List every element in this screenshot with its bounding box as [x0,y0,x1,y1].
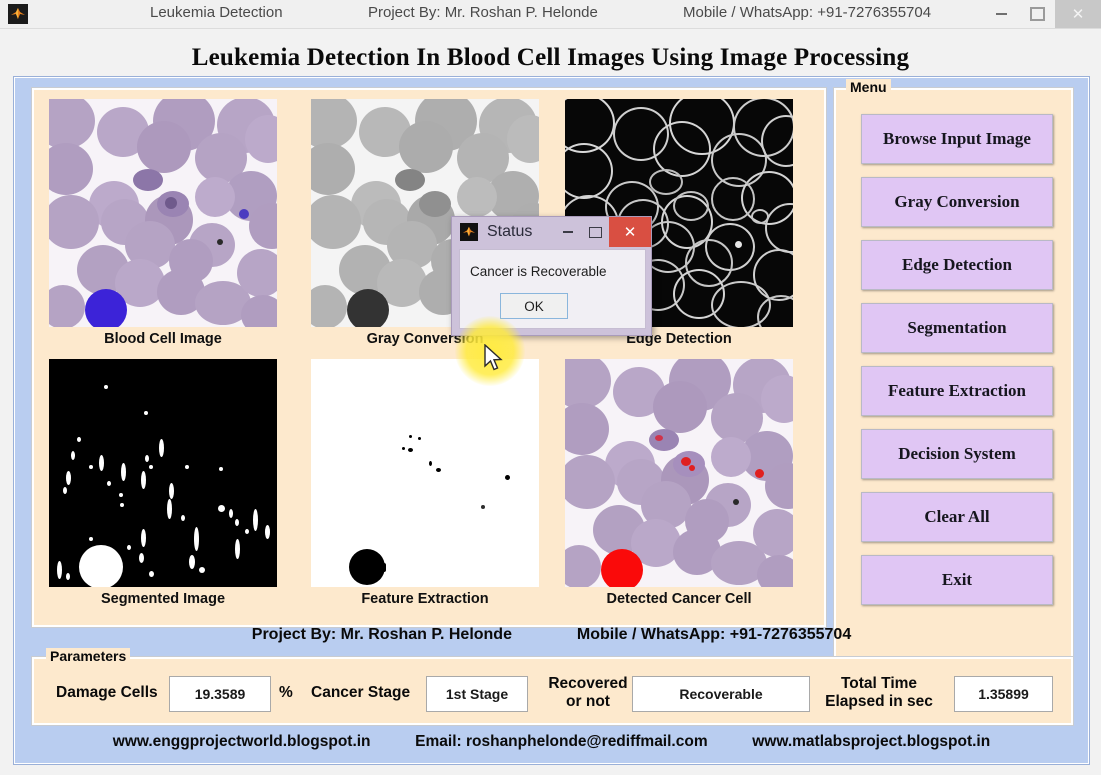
blog-link-2[interactable]: www.matlabsproject.blogspot.in [752,733,990,750]
total-time-label-line1: Total Time [814,675,944,692]
clear-all-button[interactable]: Clear All [861,492,1053,542]
segmented-cell: Segmented Image [49,359,277,607]
browse-input-image-button[interactable]: Browse Input Image [861,114,1053,164]
status-dialog-controls: ✕ [555,217,651,247]
ok-button[interactable]: OK [500,293,568,319]
email-link[interactable]: Email: roshanphelonde@rediffmail.com [415,733,707,750]
detected-cancer-cell-cell: Detected Cancer Cell [565,359,793,607]
recovered-value[interactable]: Recoverable [632,676,810,712]
segmented-caption: Segmented Image [49,591,277,607]
cancer-stage-label: Cancer Stage [311,684,410,701]
menu-legend: Menu [846,79,891,95]
blog-link-1[interactable]: www.enggprojectworld.blogspot.in [113,733,371,750]
credit-strip: Project By: Mr. Roshan P. Helonde Mobile… [14,626,1089,644]
close-button[interactable]: ✕ [1055,0,1101,28]
segmented-image[interactable] [49,359,277,587]
percent-label: % [279,684,293,701]
credit-mobile: Mobile / WhatsApp: +91-7276355704 [577,626,851,644]
segmentation-button[interactable]: Segmentation [861,303,1053,353]
recovered-label-line1: Recovered [539,675,637,692]
feature-extraction-cell: Feature Extraction [311,359,539,607]
window-titlebar: Leukemia Detection Project By: Mr. Rosha… [0,0,1101,29]
matlab-icon [8,4,28,24]
blood-cell-caption: Blood Cell Image [49,331,277,347]
damage-cells-label: Damage Cells [56,684,158,701]
status-dialog-body: Cancer is Recoverable OK [459,249,646,329]
status-dialog-title: Status [487,223,532,241]
application-window: Leukemia Detection Project By: Mr. Rosha… [0,0,1101,775]
matlab-icon [460,223,478,241]
minimize-icon [563,231,573,233]
minimize-icon [996,13,1007,15]
edge-detection-button[interactable]: Edge Detection [861,240,1053,290]
status-dialog-titlebar: Status ✕ [452,217,651,247]
images-panel: Blood Cell Image [32,88,826,627]
status-maximize-button[interactable] [581,217,609,247]
feature-extraction-caption: Feature Extraction [311,591,539,607]
parameters-panel: Parameters Damage Cells 19.3589 % Cancer… [32,657,1073,725]
status-minimize-button[interactable] [555,217,581,247]
window-title-left: Leukemia Detection [150,4,283,21]
detected-cancer-cell-caption: Detected Cancer Cell [565,591,793,607]
maximize-button[interactable] [1019,0,1055,28]
status-message: Cancer is Recoverable [470,264,607,279]
titlebar-texts: Leukemia Detection Project By: Mr. Rosha… [28,0,983,28]
window-controls: ✕ [983,0,1101,28]
window-title-right: Mobile / WhatsApp: +91-7276355704 [683,4,931,21]
detected-cancer-cell-image[interactable] [565,359,793,587]
maximize-icon [589,227,602,238]
menu-panel: Menu Browse Input Image Gray Conversion … [834,88,1073,703]
maximize-icon [1030,7,1045,21]
total-time-label-line2: Elapsed in sec [814,693,944,710]
decision-system-button[interactable]: Decision System [861,429,1053,479]
feature-extraction-button[interactable]: Feature Extraction [861,366,1053,416]
blood-cell-image[interactable] [49,99,277,327]
recovered-label-line2: or not [539,693,637,710]
figure-window: Blood Cell Image [13,76,1090,765]
minimize-button[interactable] [983,0,1019,28]
exit-button[interactable]: Exit [861,555,1053,605]
credit-project-by: Project By: Mr. Roshan P. Helonde [252,626,512,644]
damage-cells-value[interactable]: 19.3589 [169,676,271,712]
cancer-stage-value[interactable]: 1st Stage [426,676,528,712]
window-title-center: Project By: Mr. Roshan P. Helonde [368,4,598,21]
feature-extraction-image[interactable] [311,359,539,587]
footer-links: www.enggprojectworld.blogspot.in Email: … [14,733,1089,751]
gray-conversion-button[interactable]: Gray Conversion [861,177,1053,227]
status-close-button[interactable]: ✕ [609,217,651,247]
parameters-legend: Parameters [46,648,130,664]
status-dialog: Status ✕ Cancer is Recoverable OK [451,216,652,336]
total-time-value[interactable]: 1.35899 [954,676,1053,712]
blood-cell-cell: Blood Cell Image [49,99,277,347]
page-title: Leukemia Detection In Blood Cell Images … [0,44,1101,72]
